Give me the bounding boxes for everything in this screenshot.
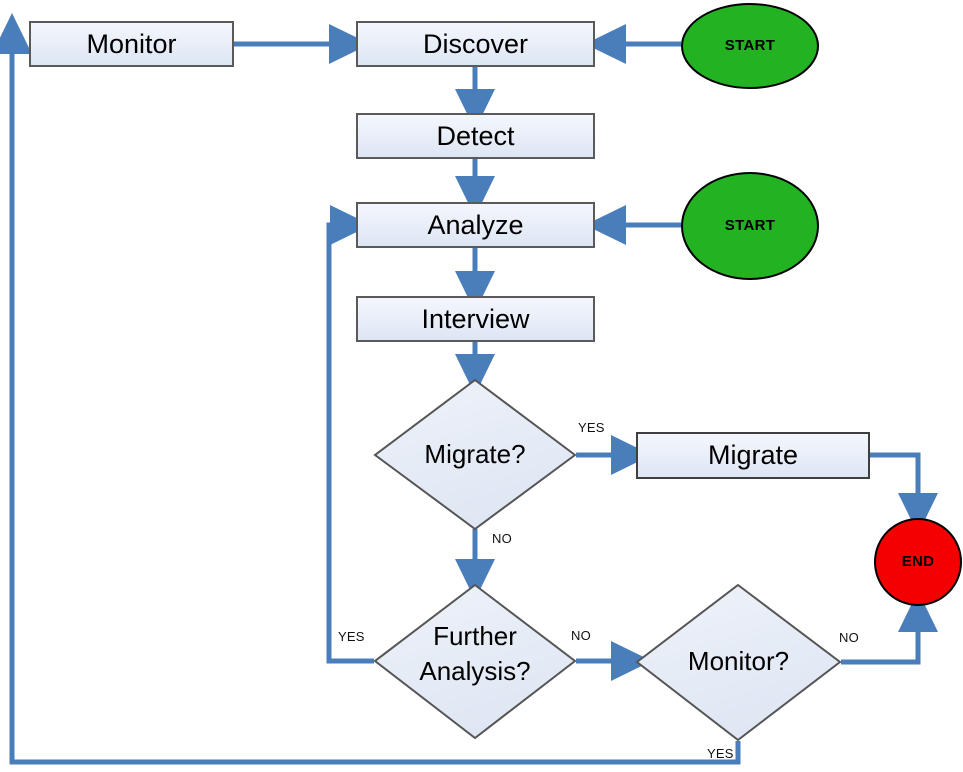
shape-monitor-question[interactable] <box>637 585 840 740</box>
shape-migrate[interactable] <box>637 433 869 478</box>
flowchart-graphics <box>0 0 963 772</box>
terminal-shapes <box>682 4 961 605</box>
shape-further-analysis-question[interactable] <box>375 585 575 738</box>
edge-migrate-to-end <box>869 455 918 511</box>
edge-further-q-yes-to-analyze <box>329 225 374 661</box>
shape-detect[interactable] <box>357 114 594 158</box>
flowchart-canvas: Monitor Discover Detect Analyze Intervie… <box>0 0 963 772</box>
shape-end[interactable] <box>875 519 961 605</box>
shape-discover[interactable] <box>357 22 594 66</box>
shape-start-mid[interactable] <box>682 173 818 279</box>
shape-interview[interactable] <box>357 297 594 341</box>
edge-monitor-q-no-to-end <box>841 614 918 662</box>
shape-monitor[interactable] <box>30 22 233 66</box>
shape-start-top[interactable] <box>682 4 818 88</box>
shape-migrate-question[interactable] <box>375 380 575 529</box>
shape-analyze[interactable] <box>357 203 594 247</box>
